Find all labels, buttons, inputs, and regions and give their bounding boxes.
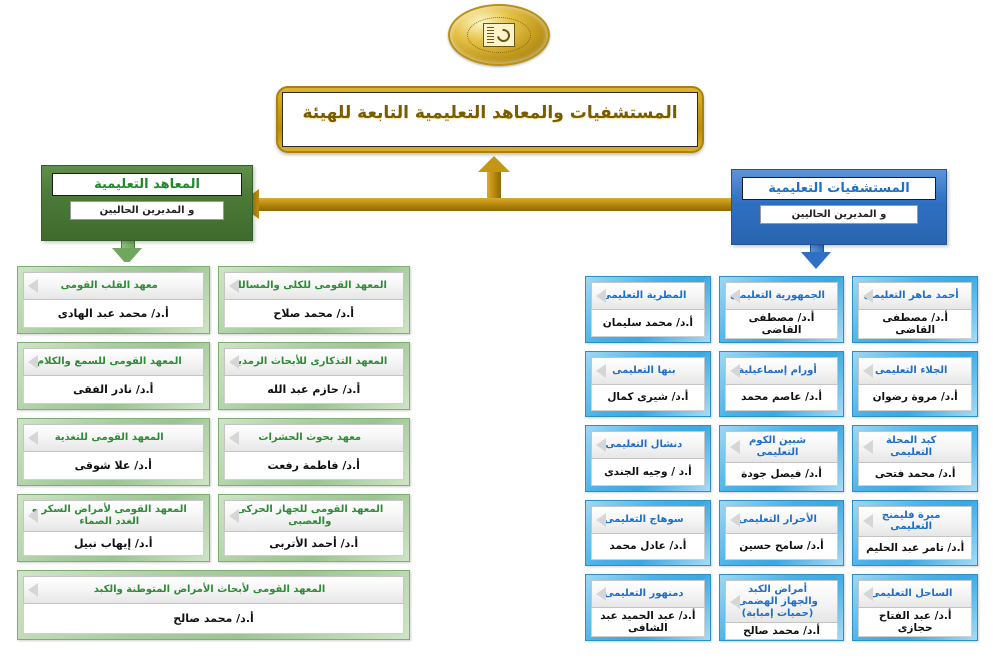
hospital-title: الجمهورية التعليمى xyxy=(725,282,839,310)
hospital-frame: دمنهور التعليمىأ.د/ عبد الحميد عبد الشاف… xyxy=(585,574,711,641)
hospital-frame: بنها التعليمىأ.د/ شيرى كمال xyxy=(585,351,711,418)
hospital-card[interactable]: أمراض الكبد والجهاز الهضمى (حميات إمبابة… xyxy=(715,570,849,645)
hospital-title: أورام إسماعيلية xyxy=(725,357,839,385)
branch-header-hospitals[interactable]: المستشفيات التعليمية و المديرين الحاليين xyxy=(731,169,947,245)
institute-frame: المعهد القومى للتغذيةأ.د/ علا شوقى xyxy=(17,418,210,486)
institute-frame: المعهد القومى للجهاز الحركى والعصبىأ.د/ … xyxy=(218,494,411,562)
institute-frame: معهد القلب القومىأ.د/ محمد عبد الهادى xyxy=(17,266,210,334)
chart-title-inner: المستشفيات والمعاهد التعليمية التابعة لل… xyxy=(282,92,698,147)
hospital-director: أ.د/ محمد فتحى xyxy=(858,463,972,486)
hospital-director: أ.د/ عاصم محمد xyxy=(725,385,839,412)
institute-title: المعهد القومى للكلى والمسالك xyxy=(224,272,405,300)
hospital-frame: الساحل التعليمىأ.د/ عبد الفتاح حجازى xyxy=(852,574,978,641)
institute-title: المعهد القومى للجهاز الحركى والعصبى xyxy=(224,500,405,532)
institute-frame: المعهد القومى لأبحاث الأمراض المتوطنة وا… xyxy=(17,570,410,640)
hospital-director: أ.د/ فيصل جودة xyxy=(725,463,839,486)
institute-title: المعهد القومى لأمراض السكر و الغدد الصما… xyxy=(23,500,204,532)
hospital-frame: الجمهورية التعليمىأ.د/ مصطفى القاضى xyxy=(719,276,845,343)
seal-core xyxy=(483,23,515,47)
hospital-director: أ.د/ عبد الفتاح حجازى xyxy=(858,608,972,637)
hospital-director: أ.د/ شيرى كمال xyxy=(591,385,705,412)
branch-title-hospitals: المستشفيات التعليمية xyxy=(742,177,936,200)
hospital-card[interactable]: دمنهور التعليمىأ.د/ عبد الحميد عبد الشاف… xyxy=(581,570,715,645)
institute-card[interactable]: المعهد القومى للجهاز الحركى والعصبىأ.د/ … xyxy=(214,490,415,566)
hospital-frame: أحمد ماهر التعليمىأ.د/ مصطفى القاضى xyxy=(852,276,978,343)
institute-card[interactable]: المعهد القومى للتغذيةأ.د/ علا شوقى xyxy=(13,414,214,490)
institute-director: أ.د/ إيهاب نبيل xyxy=(23,532,204,556)
hospital-card[interactable]: الجمهورية التعليمىأ.د/ مصطفى القاضى xyxy=(715,272,849,347)
hospital-title: المطرية التعليمى xyxy=(591,282,705,310)
institute-frame: المعهد القومى للكلى والمسالكأ.د/ محمد صل… xyxy=(218,266,411,334)
hospital-card[interactable]: المطرية التعليمىأ.د/ محمد سليمان xyxy=(581,272,715,347)
institute-title: المعهد التذكارى للأبحاث الرمدية xyxy=(224,348,405,376)
hospital-card[interactable]: الساحل التعليمىأ.د/ عبد الفتاح حجازى xyxy=(848,570,982,645)
hospital-director: أ.د/ تامر عبد الحليم xyxy=(858,537,972,560)
institute-frame: معهد بحوث الحشراتأ.د/ فاطمة رفعت xyxy=(218,418,411,486)
institute-director: أ.د/ علا شوقى xyxy=(23,452,204,480)
institute-card[interactable]: المعهد التذكارى للأبحاث الرمديةأ.د/ حازم… xyxy=(214,338,415,414)
institute-title: معهد بحوث الحشرات xyxy=(224,424,405,452)
institutes-panel: المعهد القومى للكلى والمسالكأ.د/ محمد صل… xyxy=(13,262,414,644)
institute-director: أ.د/ نادر الفقى xyxy=(23,376,204,404)
hospital-card[interactable]: شبين الكوم التعليمىأ.د/ فيصل جودة xyxy=(715,421,849,496)
hospital-frame: أورام إسماعيليةأ.د/ عاصم محمد xyxy=(719,351,845,418)
institutes-grid: المعهد القومى للكلى والمسالكأ.د/ محمد صل… xyxy=(13,262,414,644)
hospital-director: أ.د/ محمد سليمان xyxy=(591,310,705,337)
institute-director: أ.د/ محمد صالح xyxy=(23,604,404,634)
hospital-frame: المطرية التعليمىأ.د/ محمد سليمان xyxy=(585,276,711,343)
ministry-seal-icon xyxy=(448,4,550,66)
institute-frame: المعهد القومى لأمراض السكر و الغدد الصما… xyxy=(17,494,210,562)
hospital-title: الأحرار التعليمى xyxy=(725,506,839,534)
hospital-frame: دنشال التعليمىأ.د / وجيه الجندى xyxy=(585,425,711,492)
institute-card[interactable]: معهد القلب القومىأ.د/ محمد عبد الهادى xyxy=(13,262,214,338)
hospital-card[interactable]: الجلاء التعليمىأ.د/ مروة رضوان xyxy=(848,347,982,422)
hospital-director: أ.د/ مروة رضوان xyxy=(858,385,972,412)
hospital-title: الجلاء التعليمى xyxy=(858,357,972,385)
hospital-director: أ.د/ محمد صالح xyxy=(725,623,839,640)
branch-title-institutes: المعاهد التعليمية xyxy=(52,173,242,196)
hospital-frame: كبد المحلة التعليمىأ.د/ محمد فتحى xyxy=(852,425,978,492)
institute-director: أ.د/ حازم عبد الله xyxy=(224,376,405,404)
hospital-frame: سوهاج التعليمىأ.د/ عادل محمد xyxy=(585,500,711,567)
hospital-title: شبين الكوم التعليمى xyxy=(725,431,839,463)
branch-subtitle-hospitals: و المديرين الحاليين xyxy=(760,205,917,224)
hospital-director: أ.د/ عبد الحميد عبد الشافى xyxy=(591,608,705,637)
hospital-director: أ.د / وجيه الجندى xyxy=(591,459,705,486)
branch-subtitle-institutes: و المديرين الحاليين xyxy=(70,201,224,220)
hospital-frame: مبرة فليمنج التعليمىأ.د/ تامر عبد الحليم xyxy=(852,500,978,567)
hospital-title: الساحل التعليمى xyxy=(858,580,972,608)
hospital-director: أ.د/ سامح حسين xyxy=(725,534,839,561)
hospital-director: أ.د/ مصطفى القاضى xyxy=(858,310,972,339)
institute-title: المعهد القومى للتغذية xyxy=(23,424,204,452)
hospital-title: دمنهور التعليمى xyxy=(591,580,705,608)
page-title: المستشفيات والمعاهد التعليمية التابعة لل… xyxy=(302,103,677,123)
hospitals-grid: أحمد ماهر التعليمىأ.د/ مصطفى القاضىالجمه… xyxy=(581,272,982,646)
institute-card[interactable]: المعهد القومى للكلى والمسالكأ.د/ محمد صل… xyxy=(214,262,415,338)
institute-director: أ.د/ أحمد الأتربى xyxy=(224,532,405,556)
hospital-frame: أمراض الكبد والجهاز الهضمى (حميات إمبابة… xyxy=(719,574,845,641)
hospital-card[interactable]: سوهاج التعليمىأ.د/ عادل محمد xyxy=(581,496,715,571)
institute-title: المعهد القومى لأبحاث الأمراض المتوطنة وا… xyxy=(23,576,404,604)
chart-title-box: المستشفيات والمعاهد التعليمية التابعة لل… xyxy=(276,86,704,153)
hospital-card[interactable]: كبد المحلة التعليمىأ.د/ محمد فتحى xyxy=(848,421,982,496)
hospital-card[interactable]: الأحرار التعليمىأ.د/ سامح حسين xyxy=(715,496,849,571)
institute-card[interactable]: المعهد القومى لأبحاث الأمراض المتوطنة وا… xyxy=(13,566,414,644)
hospital-title: سوهاج التعليمى xyxy=(591,506,705,534)
hospital-frame: شبين الكوم التعليمىأ.د/ فيصل جودة xyxy=(719,425,845,492)
institute-director: أ.د/ فاطمة رفعت xyxy=(224,452,405,480)
institute-card[interactable]: معهد بحوث الحشراتأ.د/ فاطمة رفعت xyxy=(214,414,415,490)
horizontal-double-arrow-icon xyxy=(258,198,736,211)
institute-card[interactable]: المعهد القومى لأمراض السكر و الغدد الصما… xyxy=(13,490,214,566)
institute-director: أ.د/ محمد صلاح xyxy=(224,300,405,328)
institute-card[interactable]: المعهد القومى للسمع والكلامأ.د/ نادر الف… xyxy=(13,338,214,414)
hospital-card[interactable]: مبرة فليمنج التعليمىأ.د/ تامر عبد الحليم xyxy=(848,496,982,571)
institute-title: معهد القلب القومى xyxy=(23,272,204,300)
institute-frame: المعهد التذكارى للأبحاث الرمديةأ.د/ حازم… xyxy=(218,342,411,410)
hospital-frame: الجلاء التعليمىأ.د/ مروة رضوان xyxy=(852,351,978,418)
hospitals-panel: أحمد ماهر التعليمىأ.د/ مصطفى القاضىالجمه… xyxy=(581,272,982,646)
seal-ring xyxy=(467,17,531,53)
hospital-title: كبد المحلة التعليمى xyxy=(858,431,972,463)
hospital-card[interactable]: دنشال التعليمىأ.د / وجيه الجندى xyxy=(581,421,715,496)
branch-header-institutes[interactable]: المعاهد التعليمية و المديرين الحاليين xyxy=(41,165,253,241)
hospital-title: أحمد ماهر التعليمى xyxy=(858,282,972,310)
hospital-card[interactable]: أحمد ماهر التعليمىأ.د/ مصطفى القاضى xyxy=(848,272,982,347)
hospital-director: أ.د/ عادل محمد xyxy=(591,534,705,561)
hospital-card[interactable]: بنها التعليمىأ.د/ شيرى كمال xyxy=(581,347,715,422)
hospital-title: دنشال التعليمى xyxy=(591,431,705,459)
institute-frame: المعهد القومى للسمع والكلامأ.د/ نادر الف… xyxy=(17,342,210,410)
institute-director: أ.د/ محمد عبد الهادى xyxy=(23,300,204,328)
hospital-title: مبرة فليمنج التعليمى xyxy=(858,506,972,538)
hospital-title: بنها التعليمى xyxy=(591,357,705,385)
org-chart-canvas: المستشفيات والمعاهد التعليمية التابعة لل… xyxy=(0,0,993,663)
hospital-title: أمراض الكبد والجهاز الهضمى (حميات إمبابة… xyxy=(725,580,839,623)
institute-title: المعهد القومى للسمع والكلام xyxy=(23,348,204,376)
hospital-director: أ.د/ مصطفى القاضى xyxy=(725,310,839,339)
hospital-card[interactable]: أورام إسماعيليةأ.د/ عاصم محمد xyxy=(715,347,849,422)
hospital-frame: الأحرار التعليمىأ.د/ سامح حسين xyxy=(719,500,845,567)
